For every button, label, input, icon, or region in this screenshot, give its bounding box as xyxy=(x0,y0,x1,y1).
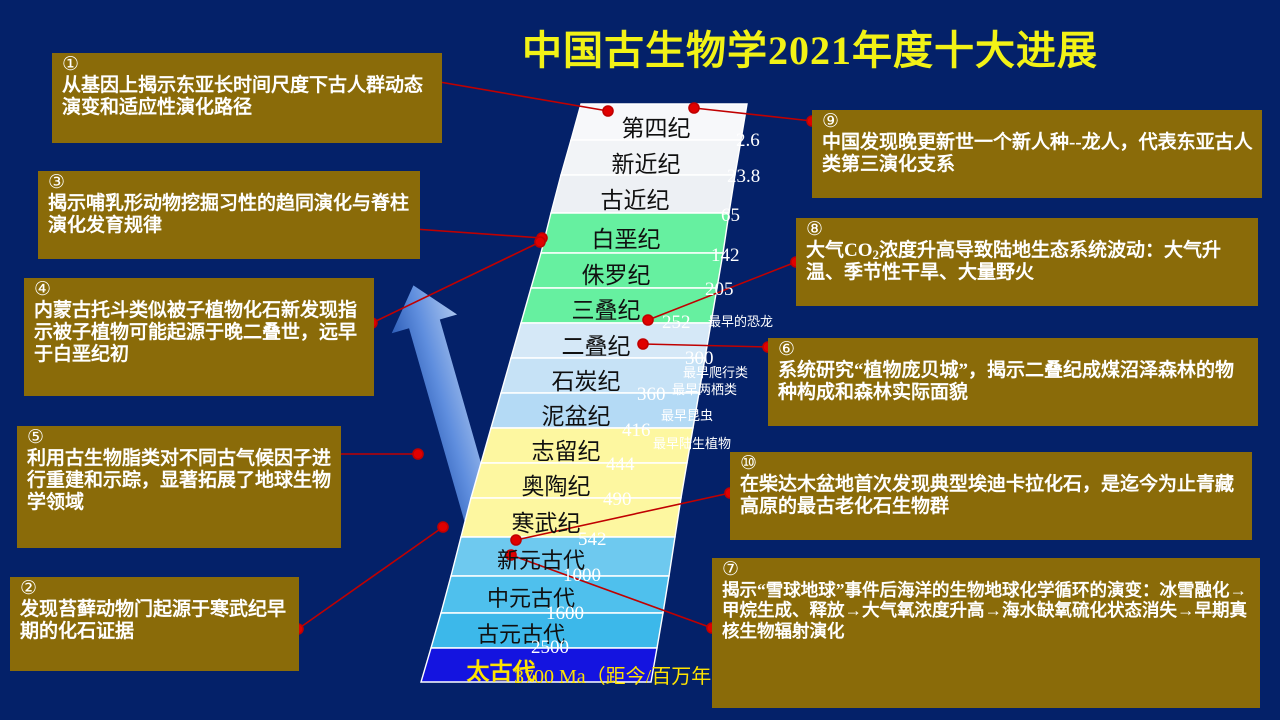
age-tick-8: 416 xyxy=(622,420,651,442)
callout-box-7[interactable]: ⑦ 揭示“雪球地球”事件后海洋的生物地球化学循环的演变：冰雪融化→甲烷生成、释放… xyxy=(712,558,1260,708)
age-tick-10: 490 xyxy=(603,489,632,511)
event-annotation-4: 最早陆生植物 xyxy=(653,433,731,452)
age-tick-2: 65 xyxy=(721,205,740,227)
callout-text-1: 从基因上揭示东亚长时间尺度下古人群动态演变和适应性演化路径 xyxy=(62,75,434,119)
callout-text-5: 利用古生物脂类对不同古气候因子进行重建和示踪，显著拓展了地球生物学领域 xyxy=(27,448,333,514)
callout-number-8: ⑧ xyxy=(806,220,1250,239)
age-tick-0: 2.6 xyxy=(736,130,760,152)
callout-box-6[interactable]: ⑥ 系统研究“植物庞贝城”，揭示二叠纪成煤沼泽森林的物种构成和森林实际面貌 xyxy=(768,338,1258,426)
callout-number-1: ① xyxy=(62,55,434,74)
callout-text-8: 大气CO2浓度升高导致陆地生态系统波动：大气升温、季节性干旱、大量野火 xyxy=(806,240,1250,284)
callout-text-4: 内蒙古托斗类似被子植物化石新发现指示被子植物可能起源于晚二叠世，远早于白垩纪初 xyxy=(34,300,366,366)
period-label-0: 第四纪 xyxy=(586,109,726,143)
age-tick-5: 252 xyxy=(662,312,691,334)
callout-number-5: ⑤ xyxy=(27,428,333,447)
callout-box-8[interactable]: ⑧ 大气CO2浓度升高导致陆地生态系统波动：大气升温、季节性干旱、大量野火 xyxy=(796,218,1258,306)
age-tick-11: 542 xyxy=(578,529,607,551)
event-annotation-3: 最早昆虫 xyxy=(661,405,713,424)
scale-caption: 3700 Ma（距今/百万年） xyxy=(514,660,731,689)
age-tick-9: 444 xyxy=(606,454,635,476)
callout-text-10: 在柴达木盆地首次发现典型埃迪卡拉化石，是迄今为止青藏高原的最古老化石生物群 xyxy=(740,474,1244,518)
callout-number-7: ⑦ xyxy=(722,560,1252,579)
callout-number-10: ⑩ xyxy=(740,454,1244,473)
period-label-4: 侏罗纪 xyxy=(546,256,686,290)
callout-number-9: ⑨ xyxy=(822,112,1254,131)
callout-box-3[interactable]: ③ 揭示哺乳形动物挖掘习性的趋同演化与脊柱演化发育规律 xyxy=(38,171,420,259)
period-label-1: 新近纪 xyxy=(576,145,716,179)
period-label-6: 二叠纪 xyxy=(526,327,666,361)
period-label-5: 三叠纪 xyxy=(536,291,676,325)
age-tick-12: 1000 xyxy=(563,565,601,587)
callout-box-5[interactable]: ⑤ 利用古生物脂类对不同古气候因子进行重建和示踪，显著拓展了地球生物学领域 xyxy=(17,426,341,548)
callout-text-3: 揭示哺乳形动物挖掘习性的趋同演化与脊柱演化发育规律 xyxy=(48,193,412,237)
period-label-2: 古近纪 xyxy=(565,181,705,215)
callout-text-9: 中国发现晚更新世一个新人种--龙人，代表东亚古人类第三演化支系 xyxy=(822,132,1254,176)
event-annotation-2: 最早两栖类 xyxy=(672,379,737,398)
callout-box-9[interactable]: ⑨ 中国发现晚更新世一个新人种--龙人，代表东亚古人类第三演化支系 xyxy=(812,110,1262,198)
age-tick-1: 23.8 xyxy=(727,166,760,188)
event-annotation-0: 最早的恐龙 xyxy=(708,311,773,330)
period-label-3: 白垩纪 xyxy=(556,220,696,254)
callout-number-2: ② xyxy=(20,579,291,598)
age-tick-4: 205 xyxy=(705,279,734,301)
period-label-7: 石炭纪 xyxy=(516,362,656,396)
callout-box-4[interactable]: ④ 内蒙古托斗类似被子植物化石新发现指示被子植物可能起源于晚二叠世，远早于白垩纪… xyxy=(24,278,374,396)
age-tick-7: 360 xyxy=(637,384,666,406)
callout-box-10[interactable]: ⑩ 在柴达木盆地首次发现典型埃迪卡拉化石，是迄今为止青藏高原的最古老化石生物群 xyxy=(730,452,1252,540)
callout-text-2: 发现苔藓动物门起源于寒武纪早期的化石证据 xyxy=(20,599,291,643)
callout-number-6: ⑥ xyxy=(778,340,1250,359)
callout-text-6: 系统研究“植物庞贝城”，揭示二叠纪成煤沼泽森林的物种构成和森林实际面貌 xyxy=(778,360,1250,404)
age-tick-14: 2500 xyxy=(531,637,569,659)
callout-text-7: 揭示“雪球地球”事件后海洋的生物地球化学循环的演变：冰雪融化→甲烷生成、释放→大… xyxy=(722,580,1252,641)
callout-number-4: ④ xyxy=(34,280,366,299)
callout-number-3: ③ xyxy=(48,173,412,192)
age-tick-3: 142 xyxy=(711,245,740,267)
age-tick-13: 1600 xyxy=(546,603,584,625)
callout-box-1[interactable]: ① 从基因上揭示东亚长时间尺度下古人群动态演变和适应性演化路径 xyxy=(52,53,442,143)
slide-canvas: 中国古生物学2021年度十大进展 xyxy=(0,0,1280,720)
callout-box-2[interactable]: ② 发现苔藓动物门起源于寒武纪早期的化石证据 xyxy=(10,577,299,671)
